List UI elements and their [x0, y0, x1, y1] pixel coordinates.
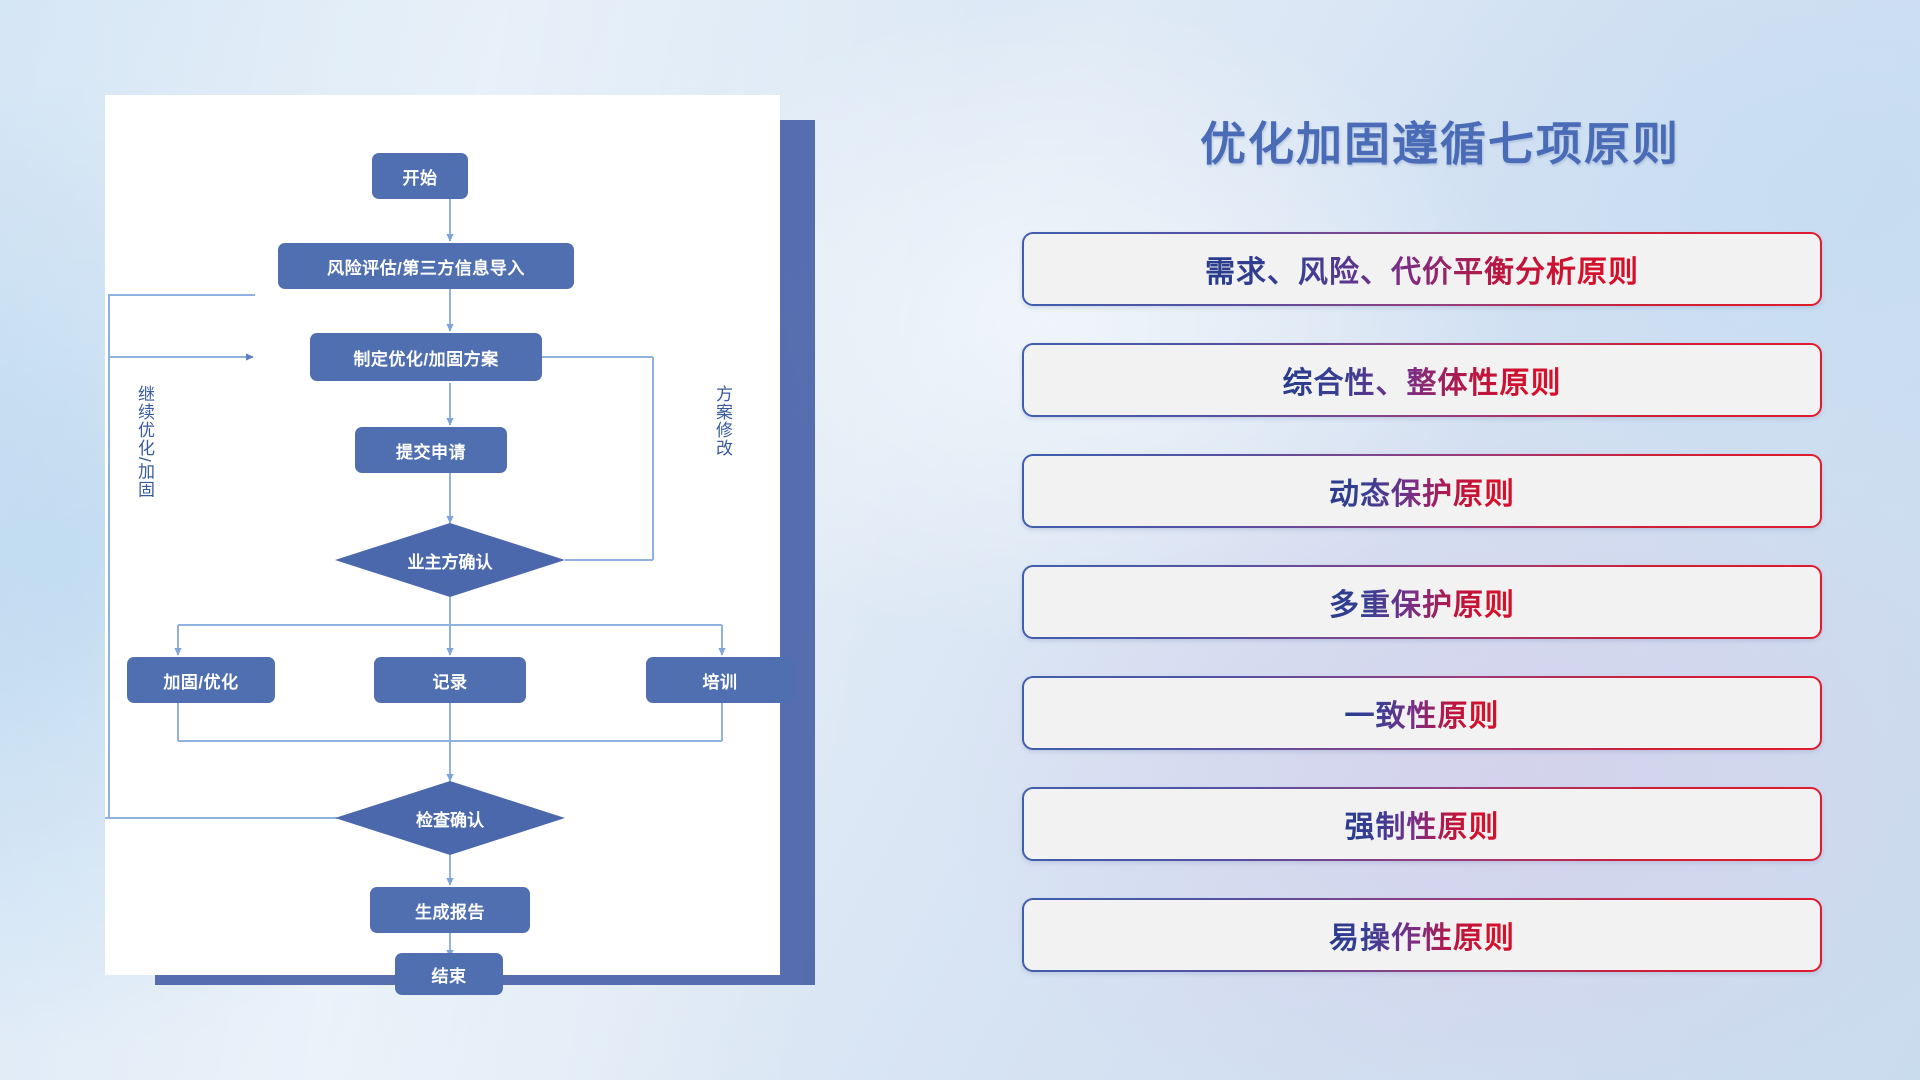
principle-item-4-label: 多重保护原则 [1329, 580, 1515, 624]
flow-node-check-confirm[interactable]: 检查确认 [335, 781, 565, 855]
principle-item-2-label: 综合性、整体性原则 [1283, 358, 1562, 402]
flow-node-generate-report[interactable]: 生成报告 [370, 887, 530, 933]
principle-item-4[interactable]: 多重保护原则 [1022, 565, 1822, 639]
flowchart-canvas: 开始 风险评估/第三方信息导入 制定优化/加固方案 提交申请 业主方确认 加固/… [105, 95, 780, 975]
principle-item-3[interactable]: 动态保护原则 [1022, 454, 1822, 528]
principle-item-3-label: 动态保护原则 [1329, 469, 1515, 513]
principle-item-7-inner: 易操作性原则 [1024, 900, 1820, 970]
principle-item-5-label: 一致性原则 [1345, 691, 1500, 735]
flow-node-end[interactable]: 结束 [395, 953, 503, 995]
flow-node-risk-assessment[interactable]: 风险评估/第三方信息导入 [278, 243, 574, 289]
principle-item-6-label: 强制性原则 [1345, 802, 1500, 846]
principle-item-7[interactable]: 易操作性原则 [1022, 898, 1822, 972]
principles-list: 需求、风险、代价平衡分析原则 综合性、整体性原则 动态保护原则 多重保护原则 一… [1022, 232, 1822, 1009]
flow-node-reinforce-label: 加固/优化 [163, 668, 238, 693]
flow-node-training-label: 培训 [703, 668, 738, 693]
principle-item-6[interactable]: 强制性原则 [1022, 787, 1822, 861]
page-title: 优化加固遵循七项原则 [1020, 108, 1860, 174]
principle-item-7-label: 易操作性原则 [1329, 913, 1515, 957]
flow-node-record[interactable]: 记录 [374, 657, 526, 703]
principle-item-1-inner: 需求、风险、代价平衡分析原则 [1024, 234, 1820, 304]
principle-item-2[interactable]: 综合性、整体性原则 [1022, 343, 1822, 417]
flow-node-submit[interactable]: 提交申请 [355, 427, 507, 473]
principle-item-1[interactable]: 需求、风险、代价平衡分析原则 [1022, 232, 1822, 306]
flow-node-end-label: 结束 [432, 962, 467, 987]
principle-item-6-inner: 强制性原则 [1024, 789, 1820, 859]
flow-node-risk-assessment-label: 风险评估/第三方信息导入 [327, 254, 525, 279]
principle-item-5-inner: 一致性原则 [1024, 678, 1820, 748]
flow-edge-label-left-loop: 继续优化/加固 [135, 385, 153, 499]
slide-root: 开始 风险评估/第三方信息导入 制定优化/加固方案 提交申请 业主方确认 加固/… [0, 0, 1920, 1080]
flow-node-check-confirm-label: 检查确认 [416, 806, 484, 831]
principle-item-2-inner: 综合性、整体性原则 [1024, 345, 1820, 415]
flow-node-make-plan-label: 制定优化/加固方案 [353, 345, 498, 370]
flow-edge-label-right-loop: 方案修改 [713, 385, 731, 457]
flow-node-record-label: 记录 [433, 668, 468, 693]
flow-node-training[interactable]: 培训 [646, 657, 794, 703]
flow-node-start[interactable]: 开始 [372, 153, 468, 199]
flowchart-panel: 开始 风险评估/第三方信息导入 制定优化/加固方案 提交申请 业主方确认 加固/… [105, 95, 780, 975]
flow-node-owner-confirm[interactable]: 业主方确认 [335, 523, 565, 597]
principle-item-4-inner: 多重保护原则 [1024, 567, 1820, 637]
flow-node-generate-report-label: 生成报告 [415, 898, 485, 923]
principle-item-3-inner: 动态保护原则 [1024, 456, 1820, 526]
flow-node-reinforce[interactable]: 加固/优化 [127, 657, 275, 703]
flow-node-submit-label: 提交申请 [396, 438, 466, 463]
flow-node-owner-confirm-label: 业主方确认 [408, 548, 493, 573]
flow-node-start-label: 开始 [403, 164, 438, 189]
flow-node-make-plan[interactable]: 制定优化/加固方案 [310, 333, 542, 381]
principle-item-1-label: 需求、风险、代价平衡分析原则 [1205, 247, 1639, 291]
principle-item-5[interactable]: 一致性原则 [1022, 676, 1822, 750]
